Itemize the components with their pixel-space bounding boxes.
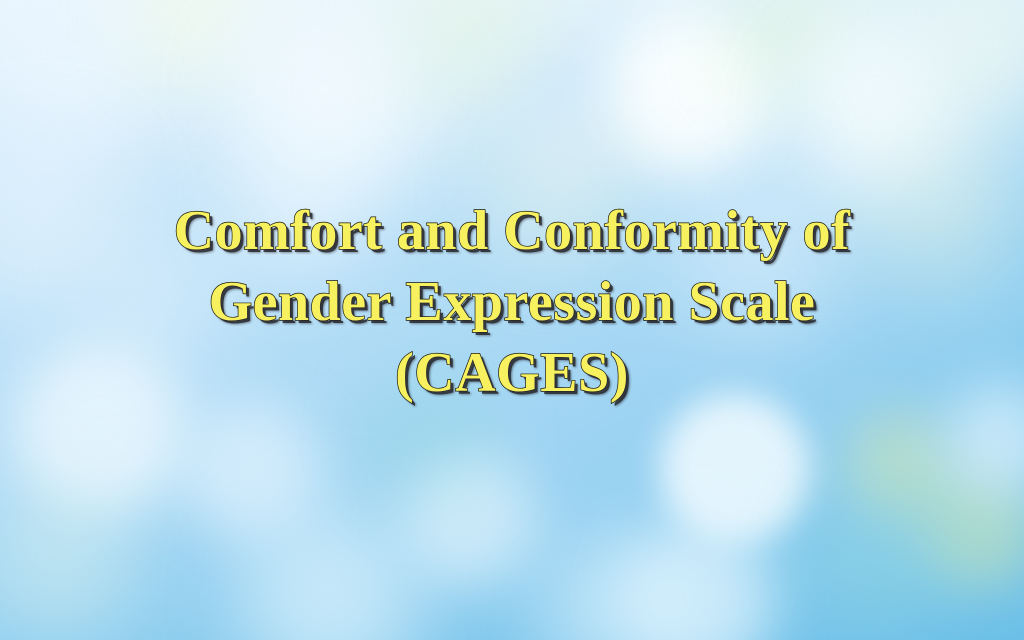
bokeh-circle (400, 450, 540, 590)
bokeh-circle (845, 410, 955, 520)
bokeh-circle (390, 0, 550, 110)
title-line-2: Gender Expression Scale (0, 267, 1024, 338)
title-line-3: (CAGES) (0, 338, 1024, 409)
bokeh-circle (918, 468, 1024, 592)
bokeh-circle (0, 0, 165, 155)
bokeh-circle (723, 0, 867, 112)
bokeh-circle (602, 7, 778, 183)
title-line-1: Comfort and Conformity of (0, 196, 1024, 267)
bokeh-circle (178, 398, 322, 542)
title-banner: Comfort and Conformity of Gender Express… (0, 0, 1024, 640)
bokeh-circle (915, 0, 1024, 115)
bokeh-circle (785, 15, 975, 205)
bokeh-circle (125, 0, 265, 90)
bokeh-circle (225, 0, 435, 200)
bokeh-circle (235, 505, 425, 640)
page-title: Comfort and Conformity of Gender Express… (0, 196, 1024, 409)
bokeh-circle (520, 60, 640, 180)
bokeh-circle (535, 525, 705, 640)
bokeh-circle (0, 480, 140, 640)
bokeh-circle (620, 520, 780, 640)
bokeh-circle (657, 392, 813, 548)
bokeh-circle (810, 490, 950, 630)
